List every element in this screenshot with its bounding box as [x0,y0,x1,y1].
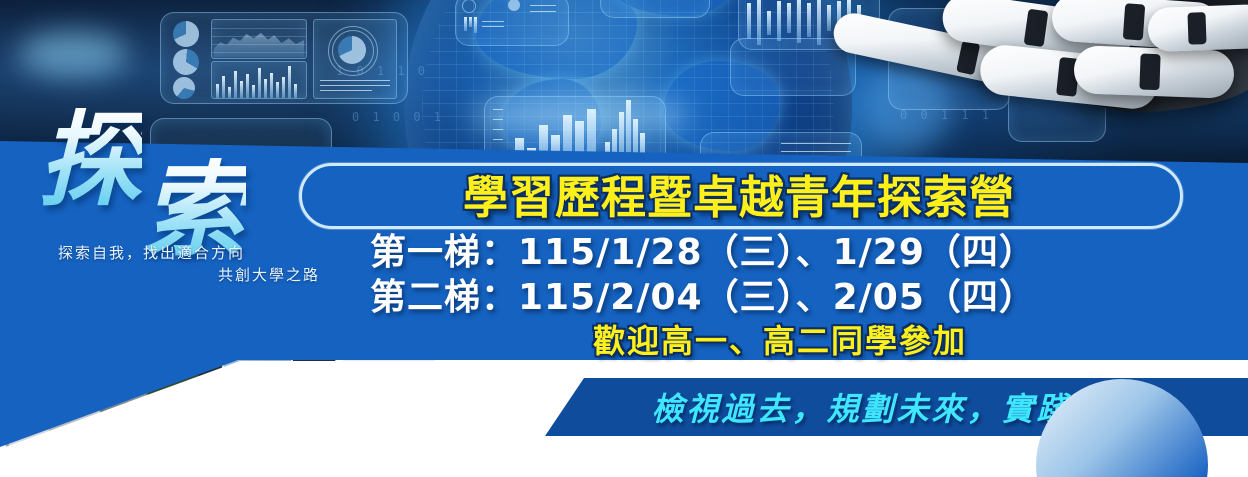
icon-strip-panel [455,0,569,46]
event-banner: 1 0 1 1 0 0 1 0 0 1 1 1 0 1 0 0 0 1 1 1 … [0,0,1248,477]
hud-panel [730,38,856,96]
subtitle-line-1: 探索自我，找出適合方向 [58,243,320,265]
session-2-date: 第二梯：115/2/04（三）、2/05（四） [370,275,1170,320]
analytics-dashboard-panel [160,12,408,104]
session-1-date: 第一梯：115/1/28（三）、1/29（四） [370,230,1170,275]
logo-char-tan: 探 [38,108,142,212]
robot-hand-icon [856,0,1248,180]
subtitle-line-2: 共創大學之路 [58,265,320,287]
audience-note: 歡迎高一、高二同學參加 [500,316,1060,362]
light-flare [18,32,128,76]
schedule-block: 第一梯：115/1/28（三）、1/29（四） 第二梯：115/2/04（三）、… [370,230,1170,321]
explore-logo: 探 索 [38,108,338,238]
binary-text: 1 0 1 1 0 [336,64,428,78]
binary-text: 0 1 0 0 1 [352,110,444,124]
logo-subtitle: 探索自我，找出適合方向 共創大學之路 [58,243,320,287]
hud-panel [600,0,710,18]
event-title: 學習歷程暨卓越青年探索營 [308,168,1170,218]
